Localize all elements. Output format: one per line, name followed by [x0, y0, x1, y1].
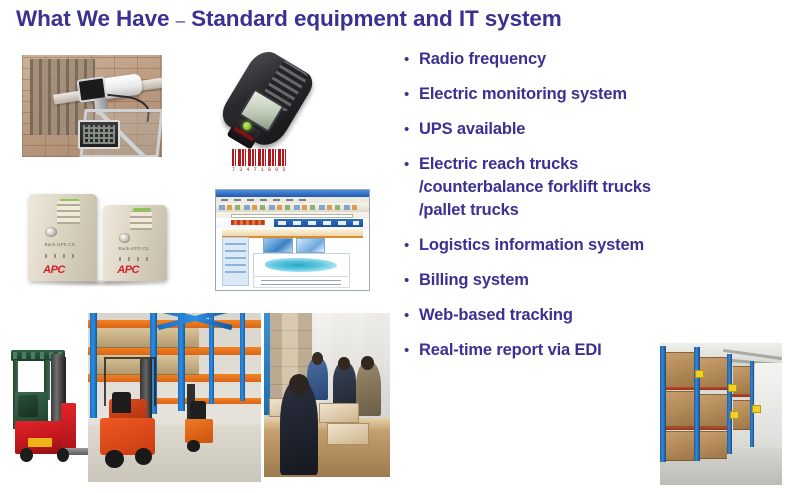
photo-cctv-camera [22, 55, 162, 157]
photo-ups-units: Back-UPS CS APC Back-UPS CS APC [20, 186, 180, 289]
list-item-label-group: Electric reach trucks /counterbalance fo… [419, 153, 782, 222]
list-item: • Electric monitoring system [404, 83, 782, 106]
title-main-text: What We Have [16, 6, 169, 31]
list-item: • Web-based tracking [404, 304, 782, 327]
list-item-label: UPS available [419, 118, 782, 141]
rack-upright-blue [660, 346, 666, 462]
ups-indicator-dots [119, 257, 148, 261]
rack-upright-blue [240, 313, 245, 401]
ups-indicator-dots [45, 254, 77, 258]
photo-warehouse-workers [264, 313, 390, 477]
list-item: • UPS available [404, 118, 782, 141]
forklift-seat [112, 392, 131, 412]
rack-carton-load [662, 391, 694, 427]
rack-carton-load [700, 394, 727, 427]
ups-power-button-icon [119, 233, 130, 242]
barcode-icon [232, 149, 288, 166]
ups-vent-grille [57, 201, 80, 223]
list-item-label: Logistics information system [419, 234, 782, 257]
forklift-wheel-rear [135, 448, 152, 465]
bullet-dot-icon: • [404, 153, 419, 176]
website-sidebar-menu [222, 237, 248, 286]
bullet-dot-icon: • [404, 339, 419, 362]
presentation-slide: What We Have – Standard equipment and IT… [0, 0, 785, 493]
photo-logistics-website [215, 189, 370, 291]
barcode-digits-label: 7 3 4 7 1 8 0 5 1 4 1 0 [232, 167, 288, 177]
rack-upright-blue [178, 313, 185, 411]
reach-truck-wheel-front [20, 448, 33, 461]
rack-upright-blue [694, 347, 700, 461]
list-item: • Billing system [404, 269, 782, 292]
package-carton [327, 423, 369, 445]
rack-pallet-load [154, 355, 199, 375]
website-text-block [253, 276, 350, 288]
photo-warehouse-forklifts [88, 313, 261, 482]
ups-vent-grille [130, 211, 152, 231]
rack-pallet-load [91, 328, 150, 348]
website-nav-bar [274, 219, 363, 227]
forklift-2-chassis [185, 419, 213, 443]
rack-upright-blue [727, 354, 732, 453]
ups-model-label: Back-UPS CS [119, 246, 151, 252]
bullet-dot-icon: • [404, 118, 419, 141]
bullet-dot-icon: • [404, 304, 419, 327]
list-item-sublabel-2: /pallet trucks [419, 199, 782, 222]
reach-truck-wheel-rear [57, 448, 69, 461]
rack-carton-load [662, 431, 694, 461]
rack-upright-blue [750, 361, 754, 446]
website-coverage-map [253, 253, 350, 277]
page-title: What We Have – Standard equipment and IT… [16, 6, 756, 32]
rack-location-label [752, 405, 761, 413]
reach-truck-battery-tower [61, 403, 76, 454]
package-carton [319, 403, 359, 423]
ups-brand-label: APC [117, 264, 139, 276]
photo-barcode-scanner: 7 3 4 7 1 8 0 5 1 4 1 0 [218, 48, 318, 178]
rack-location-label [695, 370, 704, 378]
title-dash: – [176, 11, 185, 30]
infrared-illuminator-panel [78, 120, 120, 148]
rack-carton-load [700, 431, 727, 459]
worker-4-head [361, 356, 374, 370]
rack-location-label [728, 384, 737, 392]
rack-beam-orange [88, 347, 261, 355]
list-item: • Logistics information system [404, 234, 782, 257]
rack-upright-blue [90, 313, 97, 418]
rack-carton-load [662, 352, 694, 388]
photo-electric-reach-truck [2, 333, 94, 467]
list-item-label: Radio frequency [419, 48, 782, 71]
feature-bullet-list: • Radio frequency • Electric monitoring … [404, 48, 782, 374]
list-item-label: Electric monitoring system [419, 83, 782, 106]
bullet-dot-icon: • [404, 234, 419, 257]
website-logo [231, 220, 265, 225]
bullet-dot-icon: • [404, 83, 419, 106]
website-image-2 [296, 238, 326, 253]
ups-unit-left: Back-UPS CS APC [28, 194, 97, 281]
worker-3-head [338, 357, 349, 370]
ups-unit-right: Back-UPS CS APC [103, 205, 167, 281]
forklift-2-wheel [187, 440, 201, 452]
list-item-label: Billing system [419, 269, 782, 292]
list-item-label: Electric reach trucks [419, 153, 782, 176]
rack-pallet-load [154, 328, 199, 348]
reach-truck-seat [18, 395, 38, 418]
bullet-dot-icon: • [404, 48, 419, 71]
list-item: • Radio frequency [404, 48, 782, 71]
ups-brand-label: APC [43, 264, 65, 276]
website-image-1 [263, 238, 293, 253]
list-item-sublabel-1: /counterbalance forklift trucks [419, 176, 782, 199]
bullet-dot-icon: • [404, 269, 419, 292]
list-item-label: Web-based tracking [419, 304, 782, 327]
browser-title-bar [216, 190, 369, 197]
title-subtitle-text: Standard equipment and IT system [191, 6, 562, 31]
list-item: • Electric reach trucks /counterbalance … [404, 153, 782, 222]
reach-truck-brand-badge [28, 438, 52, 447]
rack-upright-blue [209, 313, 214, 404]
rack-location-label [730, 411, 739, 419]
ups-power-button-icon [45, 227, 57, 237]
photo-pallet-racking [660, 343, 782, 485]
worker-1-head [289, 374, 309, 395]
ups-model-label: Back-UPS CS [45, 242, 79, 248]
